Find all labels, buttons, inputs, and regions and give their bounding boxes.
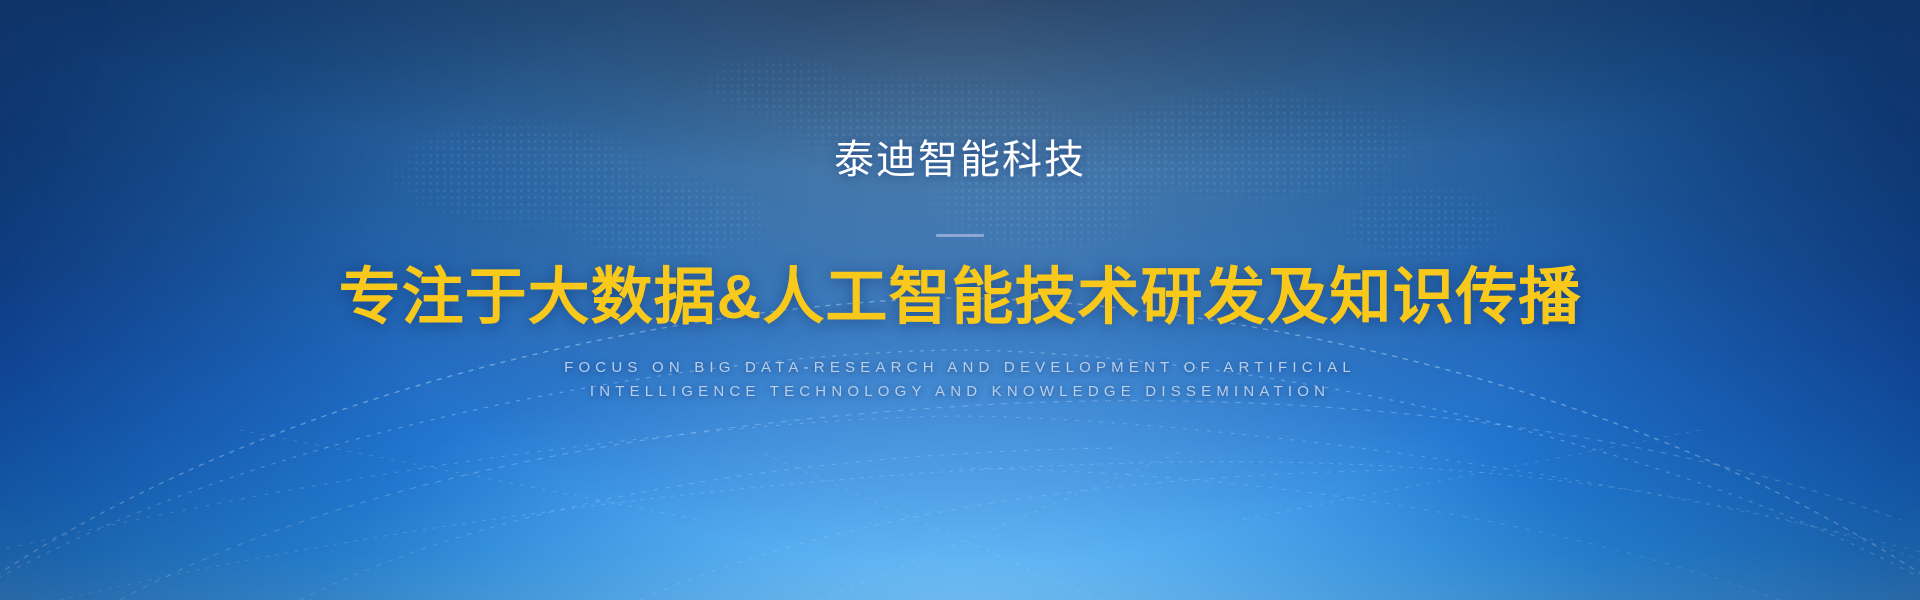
divider <box>0 224 1920 227</box>
banner-content: 泰迪智能科技 专注于大数据&人工智能技术研发及知识传播 FOCUS ON BIG… <box>0 0 1920 404</box>
english-subtitle-line-1: FOCUS ON BIG DATA-RESEARCH AND DEVELOPME… <box>0 356 1920 380</box>
english-subtitle: FOCUS ON BIG DATA-RESEARCH AND DEVELOPME… <box>0 356 1920 404</box>
brand-title: 泰迪智能科技 <box>0 140 1920 180</box>
headline: 专注于大数据&人工智能技术研发及知识传播 <box>0 265 1920 330</box>
english-subtitle-line-2: INTELLIGENCE TECHNOLOGY AND KNOWLEDGE DI… <box>0 380 1920 404</box>
divider-bar <box>936 234 984 237</box>
hero-banner: 泰迪智能科技 专注于大数据&人工智能技术研发及知识传播 FOCUS ON BIG… <box>0 0 1920 600</box>
